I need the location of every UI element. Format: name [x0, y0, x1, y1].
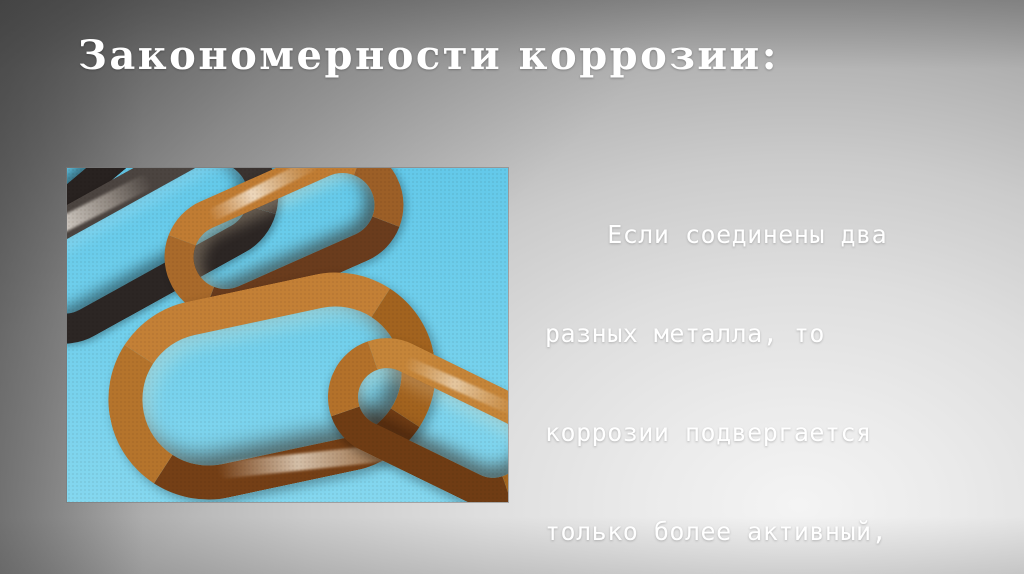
body-text-block: Если соединены два разных металла, то ко… — [545, 152, 975, 574]
presentation-slide: Закономерности коррозии: Если соединены … — [0, 0, 1024, 574]
body-line: Если соединены два — [545, 218, 975, 251]
chain-photo — [67, 168, 508, 502]
body-line: разных металла, то — [545, 317, 975, 350]
body-line: коррозии подвергается — [545, 416, 975, 449]
body-line: только более активный, — [545, 515, 975, 548]
page-title: Закономерности коррозии: — [78, 32, 779, 79]
